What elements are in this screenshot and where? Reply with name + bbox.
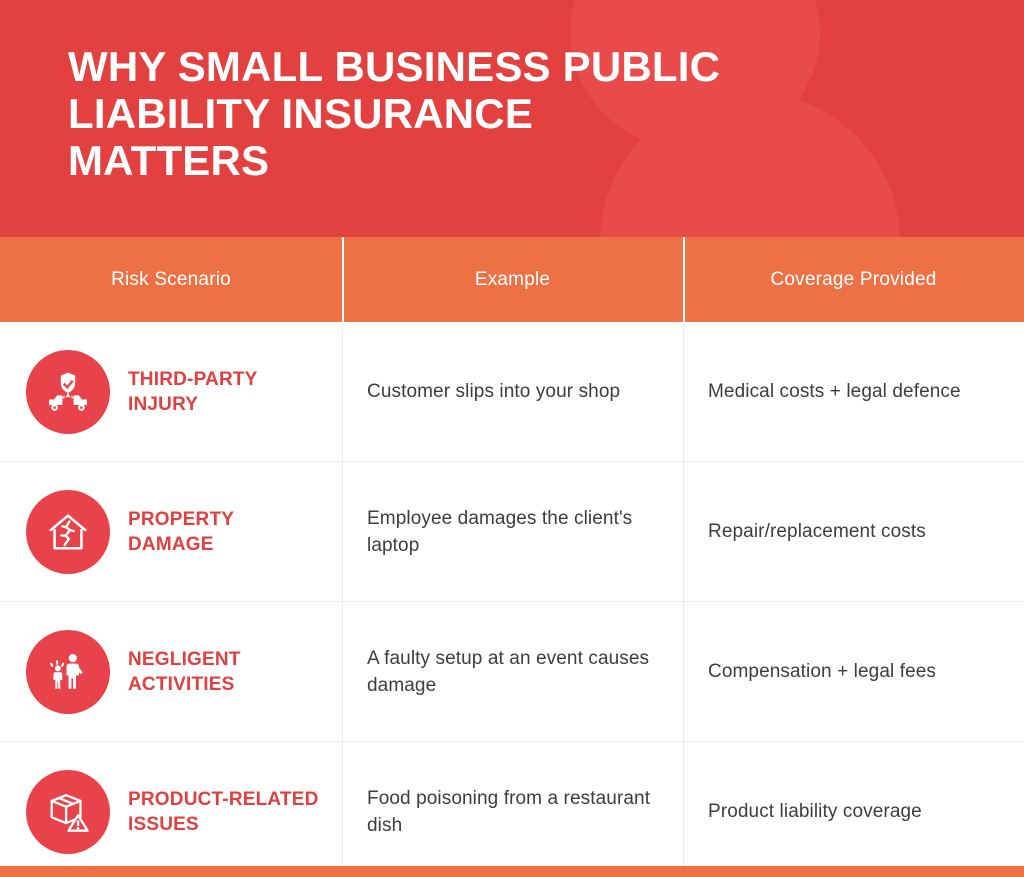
risk-coverage-table: Risk Scenario Example Coverage Provided <box>0 237 1024 866</box>
risk-label: Negligent Activities <box>128 647 324 697</box>
table-cell-example: Employee damages the client's laptop <box>342 462 683 601</box>
package-warning-icon <box>26 770 110 854</box>
table-cell-coverage: Product liability coverage <box>683 742 1024 877</box>
table-cell-risk: Third-Party Injury <box>0 322 342 461</box>
column-header-coverage-provided: Coverage Provided <box>683 237 1024 322</box>
column-header-label: Example <box>475 269 550 291</box>
column-header-example: Example <box>342 237 683 322</box>
table-row: Negligent Activities A faulty setup at a… <box>0 602 1024 742</box>
table-cell-example: Food poisoning from a restaurant dish <box>342 742 683 877</box>
table-cell-risk: Property Damage <box>0 462 342 601</box>
table-cell-example: Customer slips into your shop <box>342 322 683 461</box>
column-header-label: Risk Scenario <box>111 269 231 291</box>
page-title: Why Small Business Public Liability Insu… <box>68 43 768 184</box>
table-cell-coverage: Compensation + legal fees <box>683 602 1024 741</box>
header-banner: Why Small Business Public Liability Insu… <box>0 0 1024 237</box>
infographic-root: Why Small Business Public Liability Insu… <box>0 0 1024 877</box>
table-header-row: Risk Scenario Example Coverage Provided <box>0 237 1024 322</box>
coverage-text: Compensation + legal fees <box>708 658 936 685</box>
table-cell-example: A faulty setup at an event causes damage <box>342 602 683 741</box>
coverage-text: Repair/replacement costs <box>708 518 926 545</box>
coverage-text: Product liability coverage <box>708 798 922 825</box>
example-text: Food poisoning from a restaurant dish <box>367 785 663 839</box>
column-header-label: Coverage Provided <box>770 269 936 291</box>
example-text: A faulty setup at an event causes damage <box>367 645 663 699</box>
person-slip-hazard-icon <box>26 630 110 714</box>
table-cell-risk: Negligent Activities <box>0 602 342 741</box>
column-header-risk-scenario: Risk Scenario <box>0 237 342 322</box>
table-row: Product-Related Issues Food poisoning fr… <box>0 742 1024 877</box>
car-crash-shield-icon <box>26 350 110 434</box>
risk-label: Property Damage <box>128 507 324 557</box>
example-text: Customer slips into your shop <box>367 378 620 405</box>
table-row: Third-Party Injury Customer slips into y… <box>0 322 1024 462</box>
table-cell-coverage: Medical costs + legal defence <box>683 322 1024 461</box>
table-cell-coverage: Repair/replacement costs <box>683 462 1024 601</box>
coverage-text: Medical costs + legal defence <box>708 378 961 405</box>
table-cell-risk: Product-Related Issues <box>0 742 342 877</box>
risk-label: Product-Related Issues <box>128 787 324 837</box>
footer-accent-bar <box>0 866 1024 877</box>
cracked-house-icon <box>26 490 110 574</box>
example-text: Employee damages the client's laptop <box>367 505 663 559</box>
table-row: Property Damage Employee damages the cli… <box>0 462 1024 602</box>
risk-label: Third-Party Injury <box>128 367 324 417</box>
